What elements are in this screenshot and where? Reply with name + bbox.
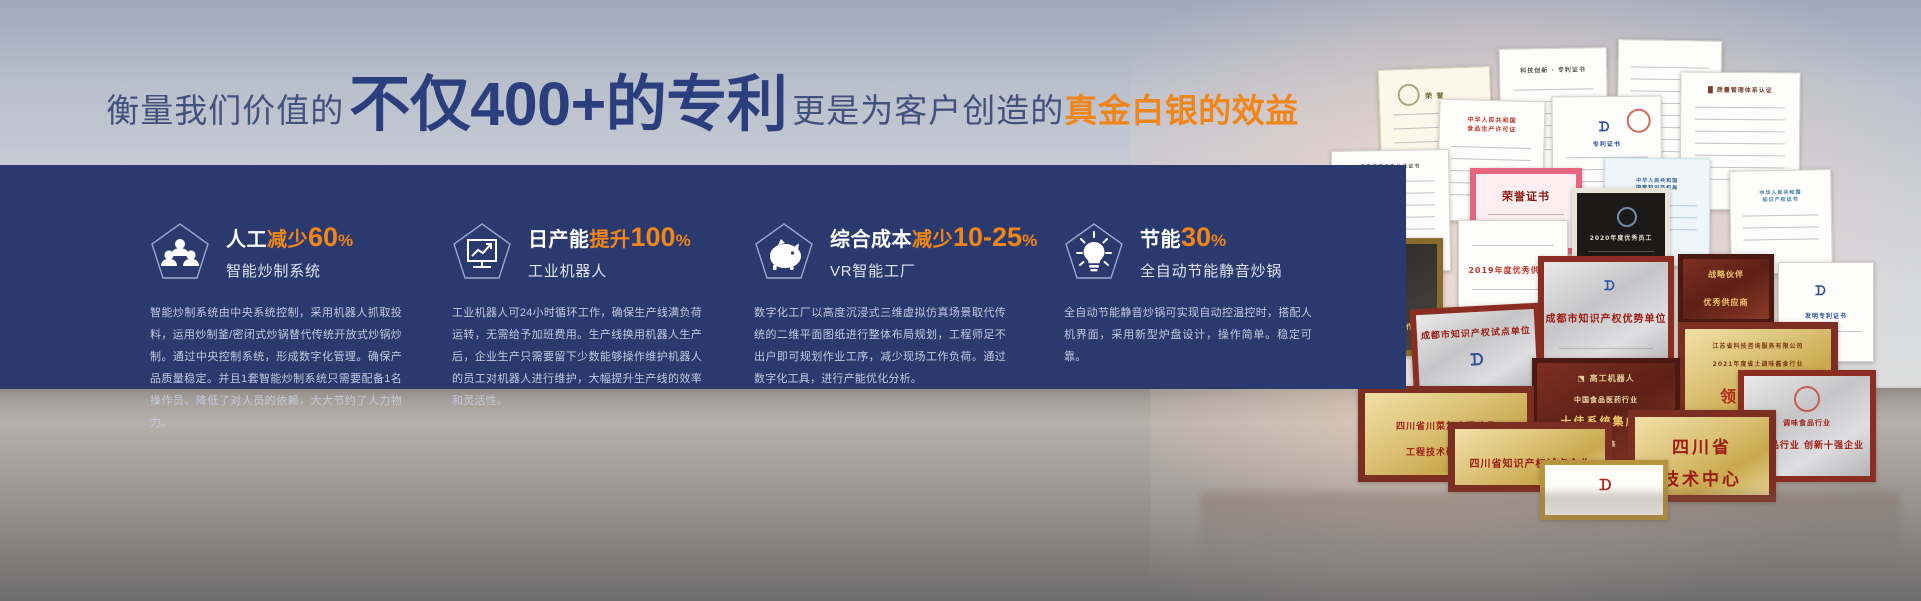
feature-title: 节能30% [1140,222,1282,253]
feature-title: 日产能提升100% [528,222,691,253]
plaque-floor-reflection [1200,492,1900,572]
feature-title: 人工减少60% [226,222,354,253]
feature-block-capacity: 日产能提升100% 工业机器人 工业机器人可24小时循环工作，确保生产线满负荷运… [452,165,712,389]
people-group-icon [150,222,210,284]
banner-stage: 科技创新 · 专利证书 荣 誉 █ 质量管理体系认证 中华人民 [0,0,1921,601]
headline-prefix: 衡量我们价值的 [106,84,344,132]
headline-middle: 更是为客户创造的 [792,84,1064,132]
feature-title: 综合成本减少10-25% [830,222,1038,253]
headline-accent: 真金白银的效益 [1064,84,1299,132]
feature-block-energy: 节能30% 全自动节能静音炒锅 全自动节能静音炒锅可实现自动控温控时，搭配人机界… [1064,165,1332,389]
feature-block-cost: 综合成本减少10-25% VR智能工厂 数字化工厂以高度沉浸式三维虚拟仿真场景取… [754,165,1022,389]
feature-description: 工业机器人可24小时循环工作，确保生产线满负荷运转，无需给予加班费用。生产线换用… [452,302,702,412]
lightbulb-icon [1064,222,1124,284]
plaque-item: 战略伙伴 优秀供应商 [1678,254,1774,324]
piggy-bank-icon [754,222,814,284]
feature-description: 全自动节能静音炒锅可实现自动控温控时，搭配人机界面，采用新型炉盘设计，操作简单。… [1064,302,1312,368]
feature-subtitle: 智能炒制系统 [226,260,354,281]
feature-subtitle: 全自动节能静音炒锅 [1140,260,1282,281]
plaque-item: ᗪ 成都市知识产权优势单位 [1538,256,1674,374]
feature-description: 智能炒制系统由中央系统控制，采用机器人抓取投料，运用炒制釜/密闭式炒锅替代传统开… [150,302,402,434]
features-panel: 人工减少60% 智能炒制系统 智能炒制系统由中央系统控制，采用机器人抓取投料，运… [0,165,1406,389]
feature-subtitle: VR智能工厂 [830,260,1038,281]
page-title: 衡量我们价值的 不仅400+的专利 更是为客户创造的 真金白银的效益 [0,74,1405,140]
feature-description: 数字化工厂以高度沉浸式三维虚拟仿真场景取代传统的二维平面图纸进行整体布局规划，工… [754,302,1006,390]
feature-subtitle: 工业机器人 [528,260,691,281]
headline-emphasis: 不仅400+的专利 [344,74,792,135]
feature-block-labor: 人工减少60% 智能炒制系统 智能炒制系统由中央系统控制，采用机器人抓取投料，运… [150,165,410,389]
chart-growth-icon [452,222,512,284]
